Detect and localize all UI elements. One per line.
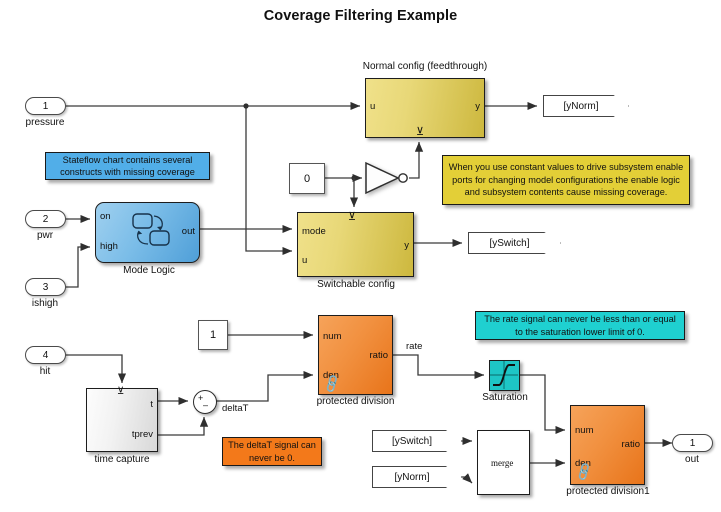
annotation-text: The deltaT signal can never be 0.: [227, 439, 317, 464]
not-gate-icon: [366, 163, 407, 193]
block-saturation[interactable]: [489, 360, 520, 391]
saturation-curve-icon: [490, 361, 518, 389]
simulink-diagram-canvas: Coverage Filtering Example: [0, 0, 721, 512]
port-label-num: num: [575, 425, 593, 436]
constant-block-1[interactable]: 1: [198, 320, 228, 350]
block-protected-division[interactable]: num den ratio 🔗: [318, 315, 393, 395]
inport-pressure[interactable]: 1: [25, 97, 66, 115]
block-mode-logic-caption: Mode Logic: [100, 265, 198, 276]
block-mode-logic[interactable]: on high out: [95, 202, 200, 263]
from-tag-yswitch[interactable]: [ySwitch]: [372, 430, 462, 452]
signal-label-deltat: deltaT: [222, 403, 248, 414]
annotation-stateflow: Stateflow chart contains several constru…: [45, 152, 210, 180]
block-time-capture-caption: time capture: [77, 454, 167, 465]
outport-out-label: out: [652, 454, 721, 465]
from-tag-label: [ySwitch]: [392, 436, 432, 447]
outport-number: 1: [690, 438, 696, 449]
annotation-rate: The rate signal can never be less than o…: [475, 311, 685, 340]
trigger-port-icon: ⊻: [117, 386, 124, 397]
block-time-capture[interactable]: t tprev ⊻: [86, 388, 158, 452]
page-title: Coverage Filtering Example: [0, 8, 721, 24]
goto-tag-ynorm[interactable]: [yNorm]: [543, 95, 629, 117]
from-tag-ynorm[interactable]: [yNorm]: [372, 466, 462, 488]
inport-ishigh-label: ishigh: [5, 298, 85, 309]
inport-pwr[interactable]: 2: [25, 210, 66, 228]
enable-port-icon: ⊻: [416, 125, 424, 138]
annotation-enable-coverage: When you use constant values to drive su…: [442, 155, 690, 205]
port-label-u: u: [302, 255, 307, 266]
from-tag-label: [yNorm]: [395, 472, 430, 483]
annotation-text: Stateflow chart contains several constru…: [50, 154, 205, 179]
inport-number: 1: [43, 101, 49, 112]
inport-ishigh[interactable]: 3: [25, 278, 66, 296]
inport-number: 3: [43, 282, 49, 293]
enable-port-icon: ⊻: [348, 210, 356, 223]
port-label-ratio: ratio: [370, 350, 388, 361]
block-merge[interactable]: merge: [477, 430, 530, 495]
constant-value: 1: [210, 329, 216, 341]
inport-pwr-label: pwr: [5, 230, 85, 241]
inport-hit[interactable]: 4: [25, 346, 66, 364]
goto-tag-label: [ySwitch]: [489, 238, 529, 249]
port-label-ratio: ratio: [622, 439, 640, 450]
constant-block-0[interactable]: 0: [289, 163, 325, 194]
inport-number: 2: [43, 214, 49, 225]
port-label-on: on: [100, 211, 111, 222]
block-saturation-caption: Saturation: [475, 392, 535, 403]
goto-tag-yswitch[interactable]: [ySwitch]: [468, 232, 561, 254]
inport-pressure-label: pressure: [5, 117, 85, 128]
inport-number: 4: [43, 350, 49, 361]
port-label-u: u: [370, 101, 375, 112]
block-normal-config-caption: Normal config (feedthrough): [345, 61, 505, 72]
port-label-tprev: tprev: [132, 429, 153, 440]
block-switchable-config[interactable]: mode u y ⊻: [297, 212, 414, 277]
block-protected-division-caption: protected division: [303, 396, 408, 407]
block-protected-division1-caption: protected division1: [553, 486, 663, 497]
stateflow-chart-icon: [126, 211, 186, 257]
port-label-y: y: [404, 240, 409, 251]
port-label-t: t: [150, 399, 153, 410]
goto-tag-label: [yNorm]: [564, 101, 599, 112]
merge-label: merge: [491, 458, 513, 468]
block-protected-division1[interactable]: num den ratio 🔗: [570, 405, 645, 485]
annotation-deltat: The deltaT signal can never be 0.: [222, 437, 322, 466]
sum-block[interactable]: + –: [193, 390, 217, 414]
sum-minus-sign: –: [203, 400, 208, 410]
block-normal-config[interactable]: u y ⊻: [365, 78, 485, 138]
inport-hit-label: hit: [5, 366, 85, 377]
port-label-y: y: [475, 101, 480, 112]
annotation-text: When you use constant values to drive su…: [447, 161, 685, 198]
block-switchable-config-caption: Switchable config: [300, 279, 412, 290]
annotation-text: The rate signal can never be less than o…: [480, 313, 680, 338]
constant-value: 0: [304, 173, 310, 185]
port-label-num: num: [323, 331, 341, 342]
signal-label-rate: rate: [406, 341, 422, 352]
port-label-high: high: [100, 241, 118, 252]
outport-out[interactable]: 1: [672, 434, 713, 452]
port-label-mode: mode: [302, 226, 326, 237]
